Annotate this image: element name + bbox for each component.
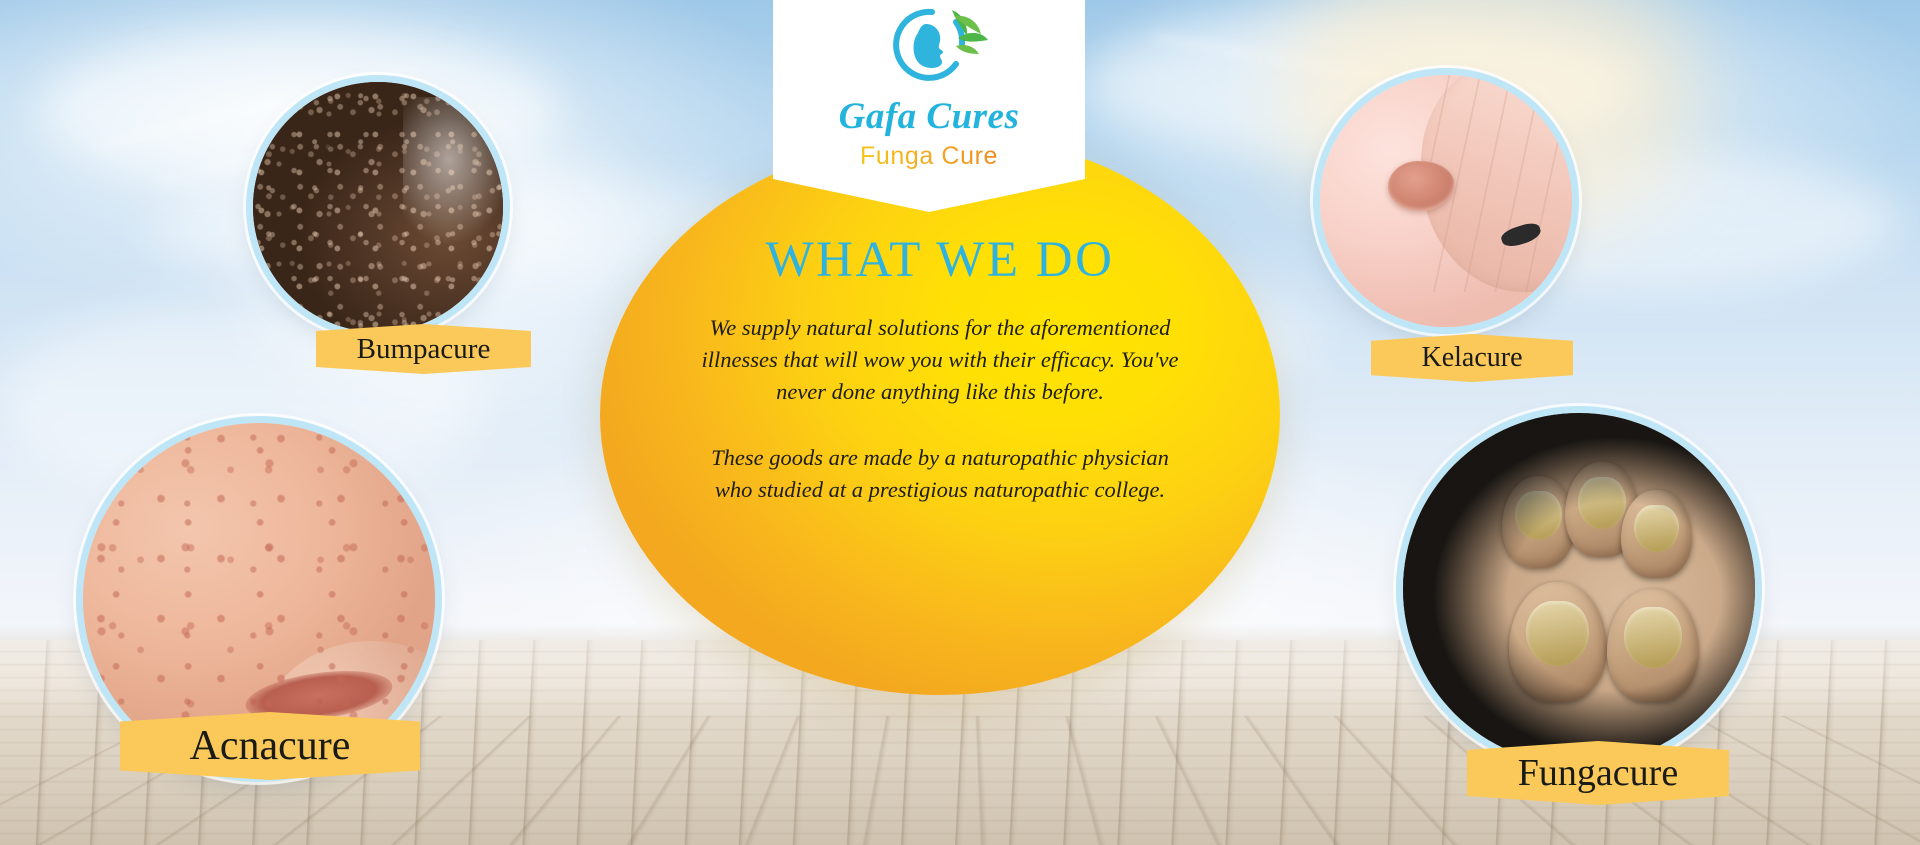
fungal-toenail-photo <box>1403 413 1755 765</box>
brand-logo-card[interactable]: Gafa Cures Funga Cure <box>773 0 1085 212</box>
hero-text-block: WHAT WE DO We supply natural solutions f… <box>600 135 1280 695</box>
hero-paragraph-2: These goods are made by a naturopathic p… <box>705 442 1175 506</box>
hero-paragraph-1: We supply natural solutions for the afor… <box>700 312 1180 408</box>
woman-face-leaf-circle-icon <box>870 2 988 94</box>
brand-tagline: Funga Cure <box>860 144 998 169</box>
product-image-fungacure[interactable] <box>1403 413 1755 765</box>
page-title: WHAT WE DO <box>766 235 1115 286</box>
product-label-bumpacure[interactable]: Bumpacure <box>316 324 531 374</box>
product-image-kelacure[interactable] <box>1320 75 1572 327</box>
brand-name: Gafa Cures <box>839 98 1020 135</box>
hero-banner: WHAT WE DO We supply natural solutions f… <box>0 0 1920 845</box>
keloid-scar-photo <box>1320 75 1572 327</box>
product-label-fungacure[interactable]: Fungacure <box>1467 741 1729 805</box>
product-label-kelacure[interactable]: Kelacure <box>1371 334 1573 382</box>
product-label-acnacure[interactable]: Acnacure <box>120 712 420 780</box>
skin-bumps-photo <box>253 82 503 332</box>
product-image-bumpacure[interactable] <box>253 82 503 332</box>
